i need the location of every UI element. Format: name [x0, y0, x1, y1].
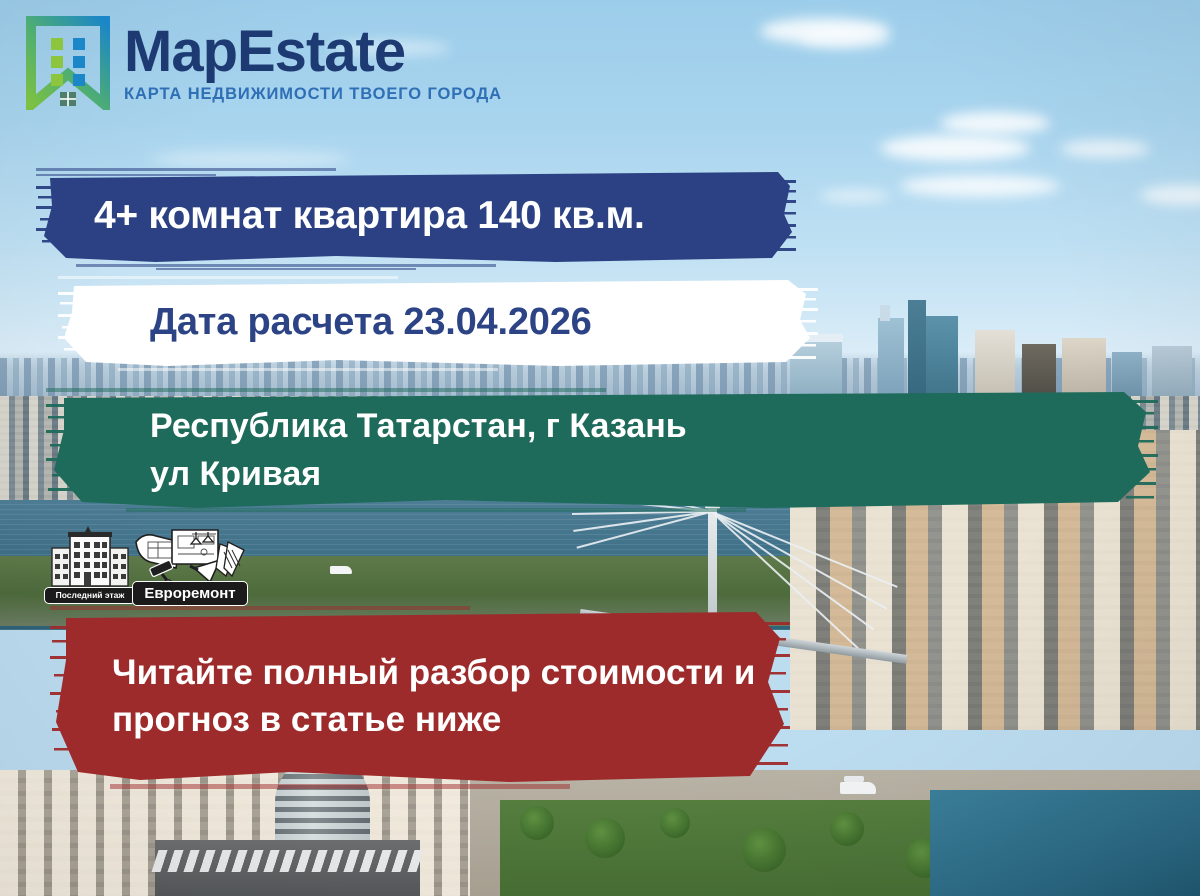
banner-date-text: Дата расчета 23.04.2026 — [58, 301, 592, 344]
brand-tagline: КАРТА НЕДВИЖИМОСТИ ТВОЕГО ГОРОДА — [124, 85, 502, 104]
apartment-building-icon — [44, 526, 136, 588]
banner-address: Республика Татарстан, г Казань ул Кривая — [46, 386, 1158, 514]
banner-address-text: Республика Татарстан, г Казань ул Кривая — [46, 402, 687, 499]
banner-date: Дата расчета 23.04.2026 — [58, 272, 818, 372]
badge-renovation: Евроремонт — [132, 524, 248, 606]
badge-renovation-label: Евроремонт — [132, 581, 248, 606]
banner-cta-text: Читайте полный разбор стоимости и прогно… — [50, 650, 790, 743]
badge-last-floor-label: Последний этаж — [44, 587, 136, 605]
brand-logo[interactable]: MapEstate КАРТА НЕДВИЖИМОСТИ ТВОЕГО ГОРО… — [26, 16, 502, 110]
brand-logo-text: MapEstate КАРТА НЕДВИЖИМОСТИ ТВОЕГО ГОРО… — [124, 23, 502, 104]
badge-last-floor: Последний этаж — [44, 526, 136, 604]
banner-rooms-text: 4+ комнат квартира 140 кв.м. — [36, 194, 645, 238]
bookmark-building-icon — [26, 16, 110, 110]
banner-rooms: 4+ комнат квартира 140 кв.м. — [36, 162, 796, 270]
brand-name: MapEstate — [124, 23, 502, 81]
banner-cta: Читайте полный разбор стоимости и прогно… — [50, 604, 790, 790]
